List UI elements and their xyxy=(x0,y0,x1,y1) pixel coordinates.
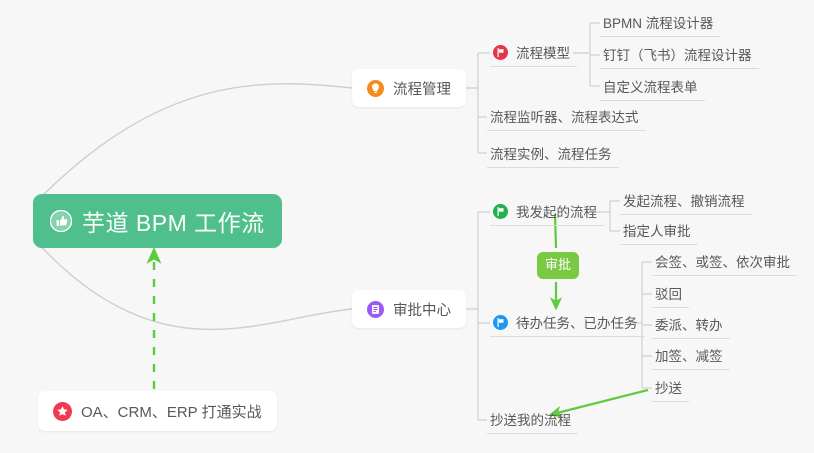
lightbulb-icon xyxy=(367,80,384,97)
branch-node-process-management[interactable]: 流程管理 xyxy=(352,69,466,107)
leaf-node-assignee-approval[interactable]: 指定人审批 xyxy=(620,216,698,245)
thumbs-up-icon xyxy=(50,210,72,232)
floating-node-oa-crm-erp[interactable]: OA、CRM、ERP 打通实战 xyxy=(38,391,277,431)
leaf-node-my-initiated[interactable]: 我发起的流程 xyxy=(490,197,604,226)
leaf-node-listener-expression-label: 流程监听器、流程表达式 xyxy=(490,106,639,126)
leaf-node-listener-expression[interactable]: 流程监听器、流程表达式 xyxy=(487,102,646,131)
root-node-label: 芋道 BPM 工作流 xyxy=(82,204,265,238)
leaf-node-todo-done-label: 待办任务、已办任务 xyxy=(516,312,638,332)
approval-flow-badge-label: 审批 xyxy=(545,257,571,272)
star-icon xyxy=(53,402,72,421)
leaf-node-add-remove-sign-label: 加签、减签 xyxy=(655,345,723,365)
connector-root-to-process-management xyxy=(33,84,352,205)
leaf-node-dingtalk-designer-label: 钉钉（飞书）流程设计器 xyxy=(603,44,752,64)
connector-root-to-approval-center xyxy=(33,238,352,329)
root-node[interactable]: 芋道 BPM 工作流 xyxy=(33,194,282,248)
floating-node-oa-crm-erp-label: OA、CRM、ERP 打通实战 xyxy=(81,401,262,422)
leaf-node-process-model-label: 流程模型 xyxy=(516,42,570,62)
branch-node-process-management-label: 流程管理 xyxy=(393,78,451,99)
leaf-node-countersign[interactable]: 会签、或签、依次审批 xyxy=(652,247,797,276)
leaf-node-instance-task-label: 流程实例、流程任务 xyxy=(490,143,612,163)
leaf-node-start-cancel[interactable]: 发起流程、撤销流程 xyxy=(620,186,752,215)
leaf-node-custom-form[interactable]: 自定义流程表单 xyxy=(600,72,705,101)
mindmap-canvas: 芋道 BPM 工作流 流程管理 审批中心 xyxy=(0,0,814,453)
leaf-node-cc-to-me-label: 抄送我的流程 xyxy=(490,409,571,429)
leaf-node-add-remove-sign[interactable]: 加签、减签 xyxy=(652,341,730,370)
leaf-node-cc[interactable]: 抄送 xyxy=(652,373,689,402)
leaf-node-start-cancel-label: 发起流程、撤销流程 xyxy=(623,190,745,210)
flag-icon xyxy=(493,204,508,219)
leaf-node-my-initiated-label: 我发起的流程 xyxy=(516,201,597,221)
flag-icon xyxy=(493,45,508,60)
branch-node-approval-center-label: 审批中心 xyxy=(393,299,451,320)
leaf-node-todo-done[interactable]: 待办任务、已办任务 xyxy=(490,308,645,337)
leaf-node-instance-task[interactable]: 流程实例、流程任务 xyxy=(487,139,619,168)
leaf-node-assignee-approval-label: 指定人审批 xyxy=(623,220,691,240)
leaf-node-dingtalk-designer[interactable]: 钉钉（飞书）流程设计器 xyxy=(600,40,759,69)
branch-node-approval-center[interactable]: 审批中心 xyxy=(352,290,466,328)
leaf-node-cc-to-me[interactable]: 抄送我的流程 xyxy=(487,405,578,434)
leaf-node-bpmn-designer-label: BPMN 流程设计器 xyxy=(603,12,713,32)
leaf-node-process-model[interactable]: 流程模型 xyxy=(490,38,577,67)
leaf-node-countersign-label: 会签、或签、依次审批 xyxy=(655,251,790,271)
leaf-node-reject-label: 驳回 xyxy=(655,283,682,303)
flag-icon xyxy=(493,315,508,330)
leaf-node-delegate-transfer-label: 委派、转办 xyxy=(655,314,723,334)
leaf-node-custom-form-label: 自定义流程表单 xyxy=(603,76,698,96)
leaf-node-delegate-transfer[interactable]: 委派、转办 xyxy=(652,310,730,339)
leaf-node-reject[interactable]: 驳回 xyxy=(652,279,689,308)
approval-flow-badge: 审批 xyxy=(537,252,579,279)
leaf-node-bpmn-designer[interactable]: BPMN 流程设计器 xyxy=(600,8,720,37)
approval-icon xyxy=(367,301,384,318)
leaf-node-cc-label: 抄送 xyxy=(655,377,682,397)
